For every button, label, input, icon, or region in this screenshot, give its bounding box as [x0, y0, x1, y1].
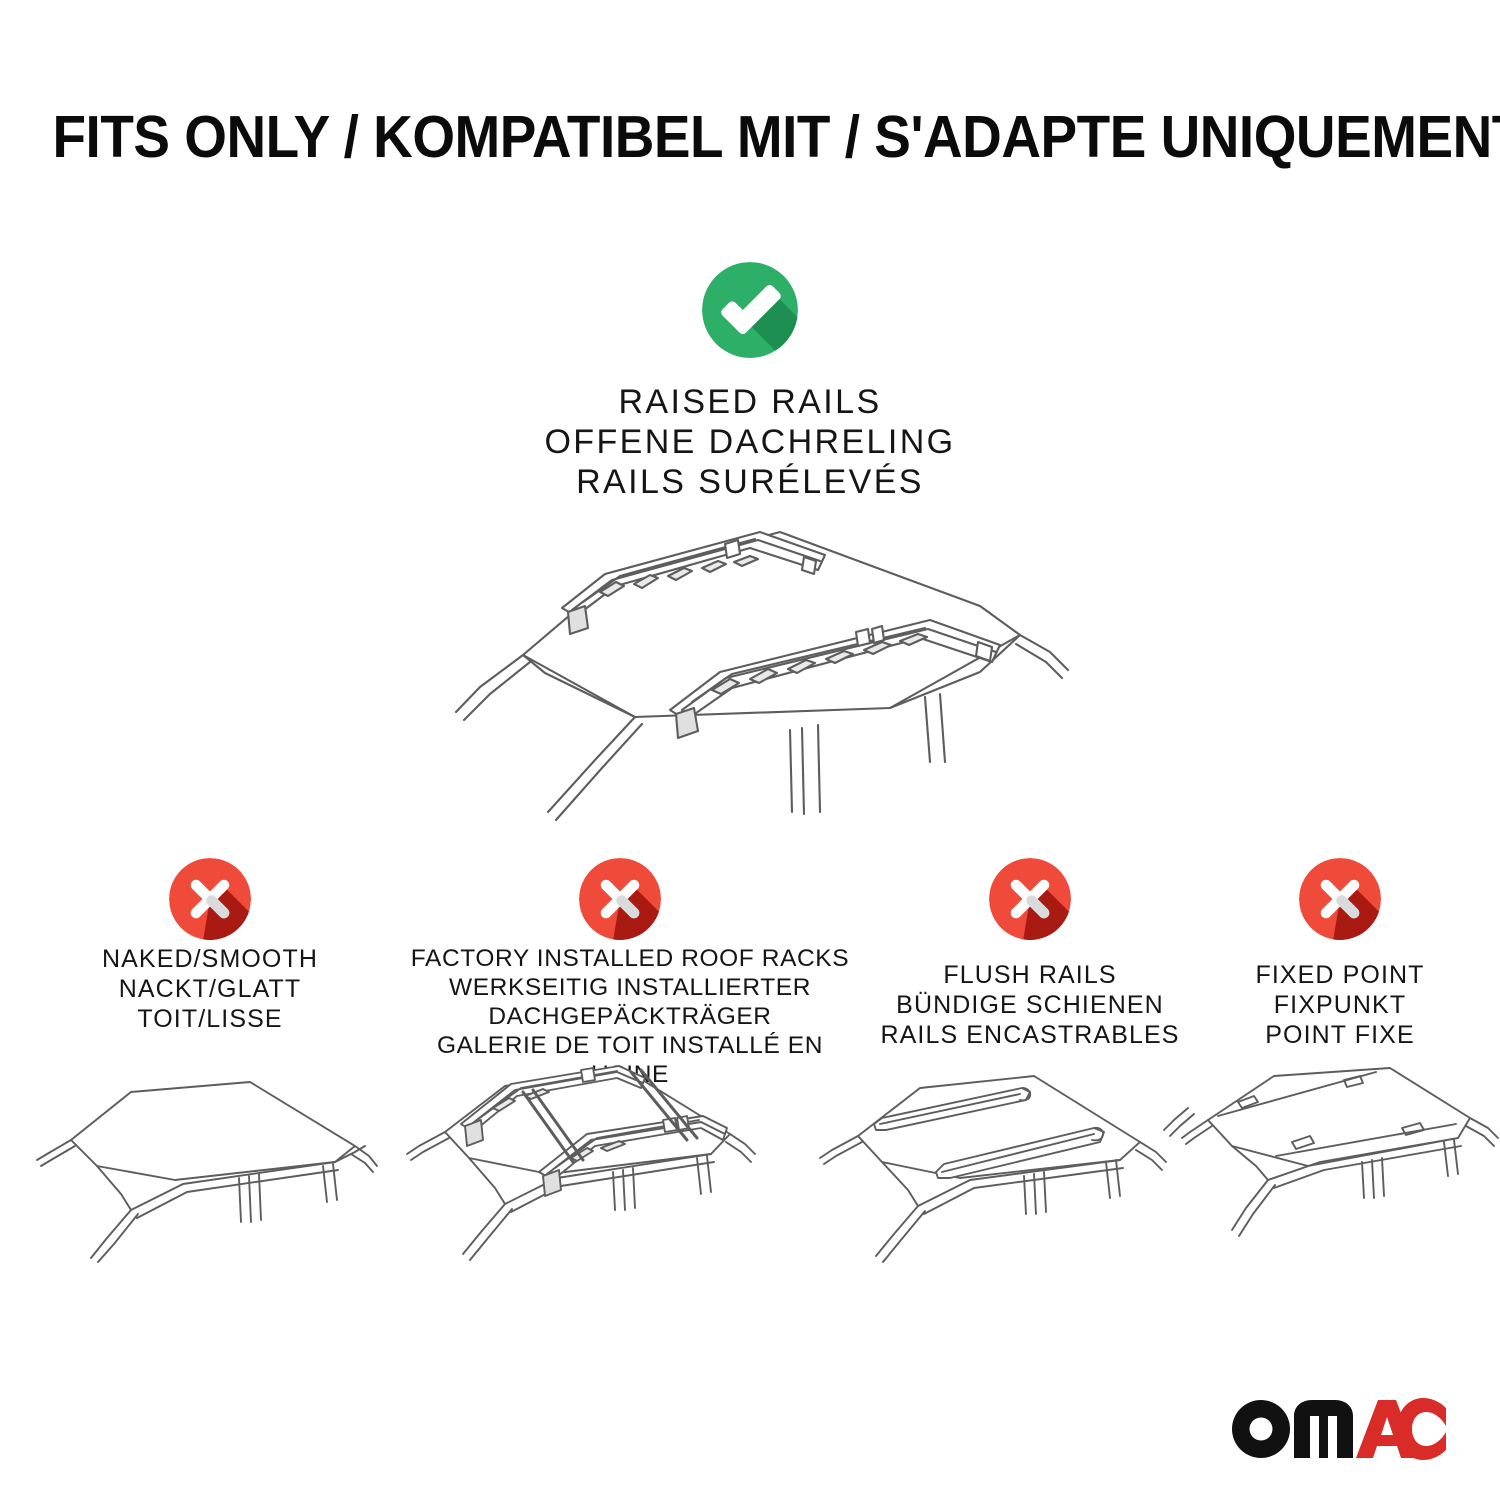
omac-logo-letter-m — [1294, 1400, 1353, 1458]
caption-line: POINT FIXE — [1215, 1020, 1465, 1050]
cross-circle-icon — [169, 858, 251, 940]
check-circle-icon-body — [702, 262, 798, 358]
compatible-caption-line-1: RAISED RAILS — [450, 382, 1050, 422]
caption-line: FACTORY INSTALLED ROOF RACKS — [395, 944, 865, 973]
cross-circle-icon — [989, 858, 1071, 940]
car-roof-flush-rails-illustration — [818, 1062, 1208, 1277]
cross-circle-icon-body — [1299, 858, 1381, 940]
caption-line: FIXPUNKT — [1215, 990, 1465, 1020]
omac-logo — [1232, 1398, 1448, 1460]
page-title: FITS ONLY / KOMPATIBEL MIT / S'ADAPTE UN… — [53, 104, 1448, 170]
caption-line: FIXED POINT — [1215, 960, 1465, 990]
car-roof-factory-roof-racks-illustration — [405, 1062, 795, 1277]
car-roof-naked-smooth-illustration — [35, 1062, 415, 1277]
caption-line: RAILS ENCASTRABLES — [860, 1020, 1200, 1050]
incompatible-caption-fixed-point: FIXED POINT FIXPUNKT POINT FIXE — [1215, 960, 1465, 1050]
caption-line: DACHGEPÄCKTRÄGER — [395, 1002, 865, 1031]
car-roof-raised-rails-illustration — [420, 512, 1090, 832]
caption-line: FLUSH RAILS — [860, 960, 1200, 990]
compatible-caption: RAISED RAILS OFFENE DACHRELING RAILS SUR… — [450, 382, 1050, 502]
check-circle-icon — [702, 262, 798, 358]
cross-circle-icon-body — [169, 858, 251, 940]
caption-line: TOIT/LISSE — [40, 1004, 380, 1034]
cross-circle-icon-body — [579, 858, 661, 940]
compatible-caption-line-3: RAILS SURÉLEVÉS — [450, 462, 1050, 502]
incompatible-caption-naked-smooth: NAKED/SMOOTH NACKT/GLATT TOIT/LISSE — [40, 944, 380, 1034]
caption-line: WERKSEITIG INSTALLIERTER — [395, 973, 865, 1002]
cross-circle-icon — [579, 858, 661, 940]
caption-line: NACKT/GLATT — [40, 974, 380, 1004]
caption-line: NAKED/SMOOTH — [40, 944, 380, 974]
cross-circle-icon-body — [989, 858, 1071, 940]
caption-line: BÜNDIGE SCHIENEN — [860, 990, 1200, 1020]
car-roof-fixed-point-illustration — [1180, 1062, 1500, 1277]
cross-circle-icon — [1299, 858, 1381, 940]
incompatible-caption-flush-rails: FLUSH RAILS BÜNDIGE SCHIENEN RAILS ENCAS… — [860, 960, 1200, 1050]
compatible-caption-line-2: OFFENE DACHRELING — [450, 422, 1050, 462]
omac-logo-letter-c — [1397, 1398, 1446, 1460]
